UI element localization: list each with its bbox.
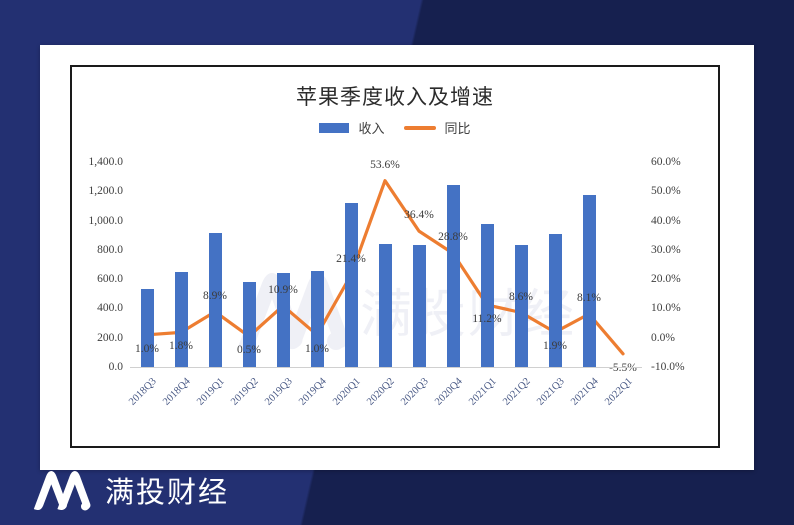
data-label-growth: 53.6% [370, 159, 400, 171]
data-label-growth: 1.8% [169, 340, 193, 352]
x-tick-label: 2021Q4 [563, 376, 600, 413]
data-label-growth: 36.4% [404, 209, 434, 221]
x-tick-label: 2020Q1 [325, 376, 362, 413]
x-tick-label: 2020Q3 [393, 376, 430, 413]
y-tick-left: 1,400.0 [89, 156, 124, 168]
bar-revenue [413, 245, 426, 367]
y-tick-right: 30.0% [651, 244, 681, 256]
y-tick-left: 0.0 [109, 361, 123, 373]
bar-revenue [141, 289, 154, 367]
x-tick-label: 2021Q2 [495, 376, 532, 413]
data-label-growth: 8.6% [509, 291, 533, 303]
y-tick-right: 10.0% [651, 302, 681, 314]
x-tick-label: 2022Q1 [597, 376, 634, 413]
data-label-growth: 1.9% [543, 340, 567, 352]
data-label-growth: 0.5% [237, 344, 261, 356]
y-tick-left: 800.0 [97, 244, 123, 256]
y-tick-right: 60.0% [651, 156, 681, 168]
x-tick-label: 2019Q3 [257, 376, 294, 413]
x-tick-label: 2019Q4 [291, 376, 328, 413]
y-tick-right: 20.0% [651, 273, 681, 285]
chart-title: 苹果季度收入及增速 [72, 81, 718, 111]
y-tick-right: 40.0% [651, 215, 681, 227]
y-tick-left: 600.0 [97, 273, 123, 285]
legend-label-growth: 同比 [445, 118, 471, 137]
data-label-growth: 8.9% [203, 290, 227, 302]
x-tick-label: 2019Q2 [223, 376, 260, 413]
bar-revenue [379, 244, 392, 367]
data-label-growth: 1.0% [305, 343, 329, 355]
x-axis-line [130, 367, 642, 368]
x-tick-label: 2018Q3 [121, 376, 158, 413]
plot-area: 1.0%1.8%8.9%0.5%10.9%1.0%21.4%53.6%36.4%… [130, 162, 640, 367]
legend-label-revenue: 收入 [358, 118, 384, 137]
bar-revenue [175, 272, 188, 367]
chart-legend: 收入 同比 [72, 118, 718, 137]
x-tick-label: 2021Q3 [529, 376, 566, 413]
y-tick-right: -10.0% [651, 361, 685, 373]
y-tick-right: 50.0% [651, 185, 681, 197]
y-tick-left: 400.0 [97, 302, 123, 314]
y-axis-left-labels: 0.0200.0400.0600.0800.01,000.01,200.01,4… [72, 162, 127, 367]
bar-revenue [447, 185, 460, 367]
bar-revenue [481, 224, 494, 367]
brand-name: 满投财经 [105, 469, 229, 511]
legend-swatch-growth-icon [404, 126, 436, 130]
x-tick-label: 2020Q4 [427, 376, 464, 413]
chart-container: 苹果季度收入及增速 收入 同比 满投财经 0.0200.0400.0600.08… [70, 65, 720, 448]
x-tick-label: 2018Q4 [155, 376, 192, 413]
bar-revenue [515, 245, 528, 367]
bar-revenue [583, 195, 596, 367]
y-tick-left: 1,000.0 [89, 215, 124, 227]
x-axis-labels: 2018Q32018Q42019Q12019Q22019Q32019Q42020… [130, 370, 642, 440]
bar-revenue [345, 203, 358, 367]
data-label-growth: 10.9% [268, 284, 298, 296]
x-tick-label: 2019Q1 [189, 376, 226, 413]
brand-footer: 满投财经 [28, 469, 229, 511]
y-axis-right-labels: -10.0%0.0%10.0%20.0%30.0%40.0%50.0%60.0% [645, 162, 717, 367]
x-tick-label: 2020Q2 [359, 376, 396, 413]
data-label-growth: 21.4% [336, 253, 366, 265]
y-tick-right: 0.0% [651, 332, 675, 344]
slide-white-card: 苹果季度收入及增速 收入 同比 满投财经 0.0200.0400.0600.08… [40, 45, 754, 470]
brand-logo-icon [28, 469, 94, 511]
x-tick-label: 2021Q1 [461, 376, 498, 413]
y-tick-left: 200.0 [97, 332, 123, 344]
legend-swatch-revenue-icon [319, 123, 349, 133]
data-label-growth: 11.2% [472, 313, 501, 325]
data-label-growth: 8.1% [577, 292, 601, 304]
y-tick-left: 1,200.0 [89, 185, 124, 197]
data-label-growth: 28.8% [438, 231, 468, 243]
data-label-growth: 1.0% [135, 343, 159, 355]
